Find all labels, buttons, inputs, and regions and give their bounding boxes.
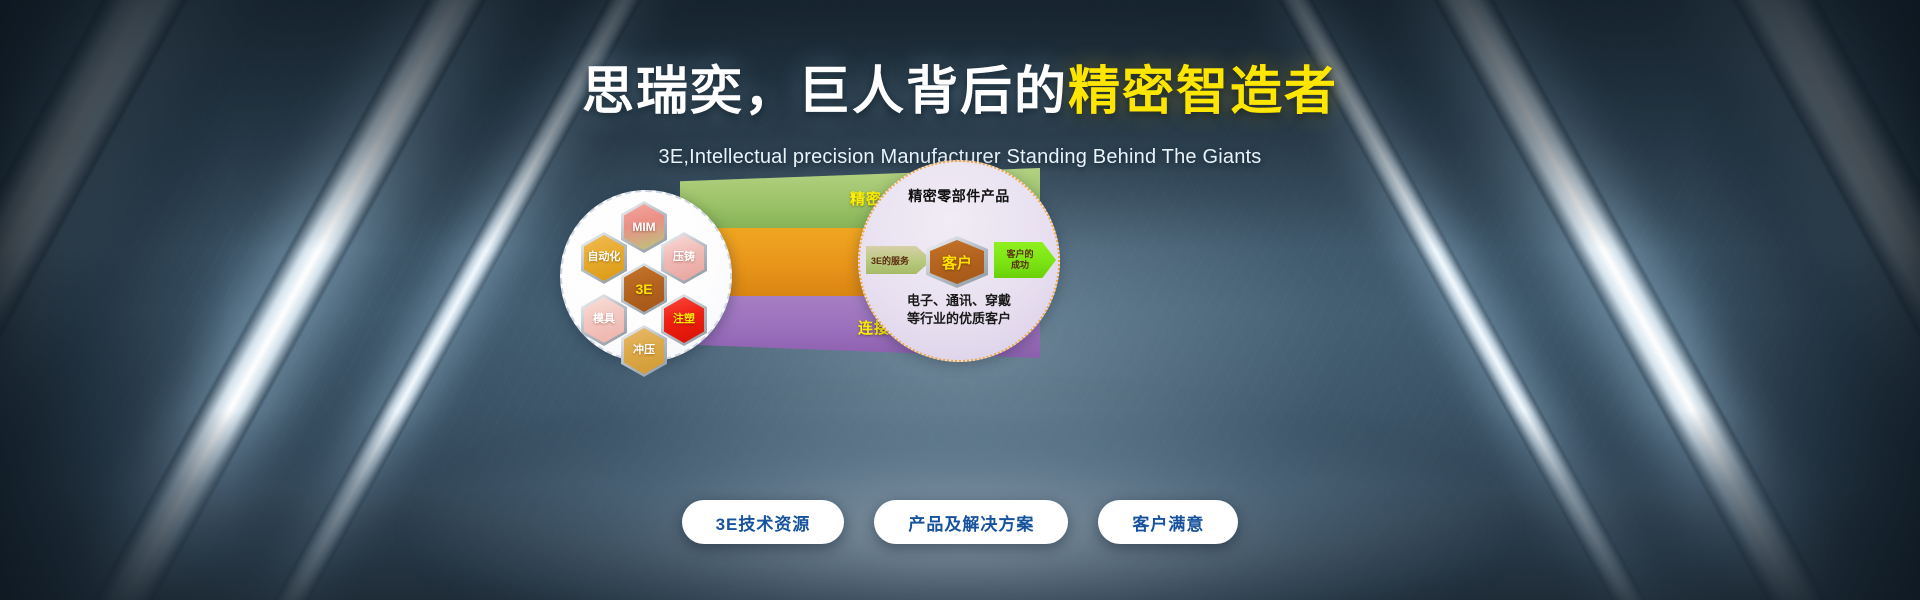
customer-circle: 精密零部件产品 3E的服务 客户 客户的成功 电子、通讯、穿戴 等行业的优质客户 — [858, 160, 1060, 362]
hexagon-capability-circle: MIM 自动化 压铸 3E 模具 注塑 冲压 — [560, 190, 732, 362]
hexagon-label-customer: 客户 — [942, 252, 972, 273]
flow-arrow-service: 3E的服务 — [866, 246, 932, 274]
customer-footer-line-1: 电子、通讯、穿戴 — [860, 292, 1058, 310]
banner-headline: 思瑞奕，巨人背后的精密智造者 — [0, 66, 1920, 118]
banner-stage: 思瑞奕，巨人背后的精密智造者 3E,Intellectual precision… — [0, 0, 1920, 600]
customer-footer-line-2: 等行业的优质客户 — [860, 310, 1058, 328]
hexagon-customer: 客户 — [926, 236, 988, 288]
hexagon-injection: 注塑 — [661, 294, 707, 346]
hexagon-label-injection: 注塑 — [673, 314, 695, 326]
flow-label-success-line1: 客户的 — [1006, 249, 1033, 260]
hexagon-label-stamping: 冲压 — [633, 345, 655, 357]
cta-pill-group: 3E技术资源 产品及解决方案 客户满意 — [0, 500, 1920, 544]
customer-value-flow: 3E的服务 客户 客户的成功 — [866, 238, 1056, 282]
hexagon-label-core-3e: 3E — [635, 282, 652, 297]
capability-diagram: 精密组件 MIM 连接器 MIM 自动化 压铸 3E 模具 — [560, 168, 1040, 358]
hexagon-label-die-casting: 压铸 — [673, 252, 695, 264]
hexagon-label-mim: MIM — [632, 221, 655, 234]
pill-product-solution[interactable]: 产品及解决方案 — [874, 500, 1068, 544]
customer-circle-title: 精密零部件产品 — [860, 186, 1058, 206]
customer-circle-footer: 电子、通讯、穿戴 等行业的优质客户 — [860, 292, 1058, 327]
pill-customer-satisfaction[interactable]: 客户满意 — [1098, 500, 1238, 544]
flow-label-success-line2: 成功 — [1006, 260, 1033, 271]
hexagon-mim: MIM — [621, 201, 667, 253]
hexagon-automation: 自动化 — [581, 232, 627, 284]
flow-label-service: 3E的服务 — [866, 254, 909, 267]
pill-tech-resource[interactable]: 3E技术资源 — [682, 500, 845, 544]
flow-label-success: 客户的成功 — [1006, 249, 1033, 272]
headline-white-text: 思瑞奕，巨人背后的 — [582, 62, 1068, 122]
hexagon-label-mold: 模具 — [593, 314, 615, 326]
hexagon-label-automation: 自动化 — [588, 252, 621, 264]
hexagon-mold: 模具 — [581, 294, 627, 346]
hexagon-die-casting: 压铸 — [661, 232, 707, 284]
flow-arrow-success: 客户的成功 — [994, 242, 1056, 278]
hexagon-core-3e: 3E — [621, 263, 667, 315]
headline-yellow-text: 精密智造者 — [1068, 62, 1338, 122]
